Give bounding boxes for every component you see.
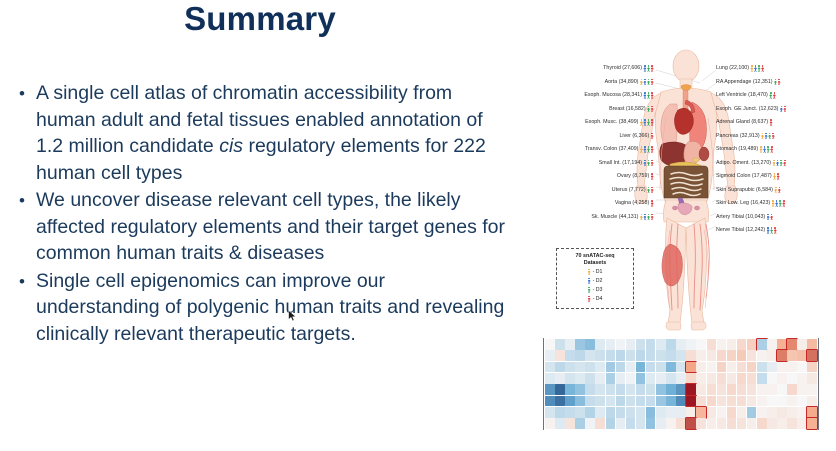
heatmap-cell [545,339,555,350]
heatmap-cell [565,418,575,429]
heatmap-cell-marker [782,354,783,358]
heatmap-cell [787,396,797,407]
tissue-label-esoph-ge-junct: Esoph. GE Junct. (12,623) [716,103,836,117]
heatmap-cell [616,407,626,418]
heatmap-cell [737,384,747,395]
heatmap-cell [777,396,787,407]
heatmap-cell [646,396,656,407]
enrichment-heatmap [543,338,819,430]
heatmap-cell [545,384,555,395]
heatmap-cell [807,350,817,361]
heatmap-cell [676,418,686,429]
heatmap-cell [606,396,616,407]
heatmap-cell [595,396,605,407]
heatmap-cell [707,373,717,384]
heatmap-cell [787,362,797,373]
heatmap-cell [737,350,747,361]
heatmap-cell [616,350,626,361]
heatmap-cell [727,407,737,418]
heatmap-cell [545,418,555,429]
dataset-legend: 70 snATAC-seq Datasets - D1 - D2 - D3 - … [556,248,634,309]
heatmap-cell [646,384,656,395]
heatmap-cell [626,339,636,350]
heatmap-cell [777,407,787,418]
tissue-label-artery-tibial: Artery Tibial (10,043) [716,211,836,225]
heatmap-cell [656,362,666,373]
heatmap-cell [717,362,727,373]
heatmap-cell [787,418,797,429]
heatmap-cell [676,350,686,361]
heatmap-cell [616,396,626,407]
heatmap-cell-marker [701,411,702,415]
heatmap-cell [585,350,595,361]
heatmap-cell [686,407,696,418]
heatmap-cell [777,384,787,395]
heatmap-cell [747,407,757,418]
heatmap-cell [747,418,757,429]
bullet-marker-icon: • [8,268,36,295]
heatmap-cell [575,407,585,418]
heatmap-cell [747,396,757,407]
heatmap-cell [737,396,747,407]
heatmap-cell [707,396,717,407]
tissue-label-adipo-oment: Adipo. Oment. (13,270) [716,157,836,171]
heatmap-cell [616,373,626,384]
heatmap-cell [575,396,585,407]
heatmap-cell-marker [812,354,813,358]
heatmap-cell [767,384,777,395]
heatmap-cell [676,384,686,395]
heatmap-cell [585,362,595,373]
heatmap-cell [696,350,706,361]
heatmap-cell [545,350,555,361]
heatmap-cell [656,418,666,429]
heatmap-cell [555,384,565,395]
heatmap-cell [575,350,585,361]
heatmap-cell [636,407,646,418]
list-item: • Single cell epigenomics can improve ou… [8,268,508,348]
tissue-label-lung: Lung (22,100) [716,62,836,76]
heatmap-cell-marker [792,343,793,347]
heatmap-cell [555,396,565,407]
tissue-label-stomach: Stomach (19,489) [716,143,836,157]
heatmap-cell [595,339,605,350]
heatmap-cell [656,339,666,350]
heatmap-cell [646,362,656,373]
person-icon-d3 [588,287,591,294]
heatmap-cell [666,339,676,350]
heatmap-cell [747,384,757,395]
list-item: • A single cell atlas of chromatin acces… [8,80,508,186]
heatmap-cell [555,373,565,384]
heatmap-cell [626,362,636,373]
heatmap-cell [717,384,727,395]
heatmap-cell [656,350,666,361]
heatmap-cell [777,339,787,350]
heatmap-cell [555,350,565,361]
heatmap-cell [575,362,585,373]
heatmap-cell [636,396,646,407]
heatmap-cell [727,396,737,407]
legend-title-line2: Datasets [561,260,629,267]
heatmap-cell [565,350,575,361]
heatmap-cell [717,396,727,407]
heatmap-cell [797,407,807,418]
heatmap-cell [636,418,646,429]
heatmap-cell [787,407,797,418]
heatmap-cell [636,373,646,384]
heatmap-cell [757,396,767,407]
heatmap-cell [737,373,747,384]
heatmap-cell [807,373,817,384]
heatmap-cell [666,373,676,384]
tissue-label-ovary: Ovary (8,759) [520,170,655,184]
heatmap-cell [565,362,575,373]
heatmap-cell [707,384,717,395]
heatmap-cell-marker [691,399,692,403]
heatmap-cell [747,362,757,373]
heatmap-cell [737,407,747,418]
heatmap-cell [807,362,817,373]
heatmap-cell [686,396,696,407]
heatmap-cell [696,418,706,429]
heatmap-cell-marker [691,422,692,426]
heatmap-cell [797,418,807,429]
heatmap-cell [595,350,605,361]
heatmap-cell [646,407,656,418]
heatmap-cell [666,350,676,361]
heatmap-cell [595,418,605,429]
heatmap-cell [807,407,817,418]
heatmap-cell [626,407,636,418]
heatmap-cell [686,339,696,350]
heatmap-cell [777,350,787,361]
heatmap-cell [686,373,696,384]
heatmap-cell [797,350,807,361]
heatmap-cell [757,373,767,384]
heatmap-cell [727,373,737,384]
heatmap-cell [606,362,616,373]
list-item: • We uncover disease relevant cell types… [8,187,508,267]
bullet-1-text: A single cell atlas of chromatin accessi… [36,80,508,186]
heatmap-cell [727,350,737,361]
heatmap-cell [797,339,807,350]
heatmap-cell [707,418,717,429]
slide-canvas: Summary • A single cell atlas of chromat… [0,0,836,451]
bullet-2-text: We uncover disease relevant cell types, … [36,187,508,267]
heatmap-cell [787,373,797,384]
heatmap-cell [646,373,656,384]
heatmap-cell [767,418,777,429]
heatmap-cell [777,373,787,384]
heatmap-cell [767,350,777,361]
tissue-label-left-ventricle: Left Ventricle (18,470) [716,89,836,103]
heatmap-cell [757,384,767,395]
heatmap-cell [595,407,605,418]
heatmap-cell [707,339,717,350]
person-icon-d2 [588,278,591,285]
heatmap-cell [545,396,555,407]
tissue-label-adrenal-gland: Adrenal Gland (8,637) [716,116,836,130]
tissue-label-transv-colon: Transv. Colon (37,409) [520,143,655,157]
heatmap-cell [595,384,605,395]
heatmap-grid [544,338,818,430]
heatmap-cell [656,407,666,418]
heatmap-cell [696,373,706,384]
tissue-label-small-int: Small Int. (17,194) [520,157,655,171]
heatmap-cell [575,418,585,429]
heatmap-cell [636,350,646,361]
heatmap-cell [797,384,807,395]
heatmap-cell [606,350,616,361]
heatmap-cell [575,339,585,350]
heatmap-cell [626,396,636,407]
heatmap-cell [575,373,585,384]
tissue-label-nerve-tibial: Nerve Tibial (12,242) [716,224,836,238]
heatmap-cell [616,362,626,373]
heatmap-cell [555,407,565,418]
heatmap-cell [555,418,565,429]
heatmap-cell [606,373,616,384]
heatmap-cell [797,362,807,373]
heatmap-cell [595,362,605,373]
heatmap-cell [807,396,817,407]
tissue-label-esoph-mucosa: Esoph. Mucosa (28,341) [520,89,655,103]
heatmap-cell [616,339,626,350]
bullet-marker-icon: • [8,80,36,107]
summary-bullet-list: • A single cell atlas of chromatin acces… [8,80,508,348]
heatmap-cell [676,339,686,350]
tissue-label-skin-suprapubic: Skin Suprapubic (6,584) [716,184,836,198]
heatmap-cell [717,350,727,361]
heatmap-cell [696,407,706,418]
heatmap-cell [707,362,717,373]
heatmap-cell [565,396,575,407]
heatmap-cell [727,384,737,395]
heatmap-cell [717,373,727,384]
heatmap-cell [686,362,696,373]
heatmap-cell [696,339,706,350]
tissue-label-esoph-musc: Esoph. Musc. (38,499) [520,116,655,130]
heatmap-cell-marker [691,365,692,369]
heatmap-cell [747,339,757,350]
heatmap-cell [636,362,646,373]
heatmap-cell [686,418,696,429]
heatmap-cell [666,396,676,407]
heatmap-cell [767,339,777,350]
heatmap-cell [565,384,575,395]
heatmap-cell [616,418,626,429]
heatmap-cell [616,384,626,395]
heatmap-cell [717,339,727,350]
heatmap-cell [717,418,727,429]
heatmap-cell [555,339,565,350]
heatmap-cell [646,339,656,350]
heatmap-cell [707,350,717,361]
tissue-label-skin-low-leg: Skin Low. Leg (16,423) [716,197,836,211]
tissue-label-thyroid: Thyroid (27,606) [520,62,655,76]
heatmap-cell [757,339,767,350]
heatmap-cell [575,384,585,395]
heatmap-cell [585,339,595,350]
heatmap-cell [636,384,646,395]
heatmap-cell [585,384,595,395]
page-title: Summary [0,2,520,37]
tissue-label-sk-muscle: Sk. Muscle (44,131) [520,211,655,225]
heatmap-cell [676,396,686,407]
legend-title-line1: 70 snATAC-seq [561,253,629,260]
tissue-label-vagina: Vagina (4,258) [520,197,655,211]
heatmap-cell-marker [812,422,813,426]
heatmap-cell [606,418,616,429]
person-icon-d1 [588,269,591,276]
heatmap-cell [555,362,565,373]
heatmap-cell [656,396,666,407]
heatmap-cell [767,373,777,384]
heatmap-cell [545,362,555,373]
heatmap-cell [565,339,575,350]
heatmap-cell [807,418,817,429]
person-icon-d4 [588,296,591,303]
heatmap-cell [757,407,767,418]
heatmap-cell [606,384,616,395]
legend-entry-d1: - D1 [561,268,629,276]
heatmap-cell-marker [691,388,692,392]
heatmap-cell [787,339,797,350]
heatmap-cell [707,407,717,418]
tissue-label-liver: Liver (6,366) [520,130,655,144]
heatmap-cell [606,407,616,418]
heatmap-cell [666,418,676,429]
mouse-cursor-icon [288,310,297,322]
heatmap-cell [646,350,656,361]
heatmap-cell [727,362,737,373]
heatmap-cell [696,384,706,395]
heatmap-cell [777,418,787,429]
tissue-label-uterus: Uterus (7,772) [520,184,655,198]
human-body-atlas-figure: Thyroid (27,606) Aorta (34,890) Esoph. M… [520,48,836,333]
heatmap-cell [676,407,686,418]
heatmap-cell [595,373,605,384]
tissue-labels-left: Thyroid (27,606) Aorta (34,890) Esoph. M… [520,62,655,224]
skeletal-muscle-highlight [662,244,683,286]
heatmap-cell [646,418,656,429]
heatmap-cell [737,362,747,373]
heatmap-cell [737,418,747,429]
heatmap-cell [666,362,676,373]
heatmap-cell [656,373,666,384]
heatmap-cell [727,339,737,350]
heatmap-cell [777,362,787,373]
tissue-label-ra-appendage: RA Appendage (12,351) [716,76,836,90]
heatmap-cell [686,384,696,395]
bullet-marker-icon: • [8,187,36,214]
tissue-labels-right: Lung (22,100) RA Appendage (12,351) Left… [716,62,836,238]
tissue-label-sigmoid-colon: Sigmoid Colon (17,487) [716,170,836,184]
bullet-1-part-2-italic: cis [219,135,243,157]
heatmap-cell [696,396,706,407]
heatmap-cell [757,350,767,361]
heatmap-cell [686,350,696,361]
heatmap-cell [787,384,797,395]
heatmap-cell [696,362,706,373]
heatmap-cell [585,396,595,407]
heatmap-cell [626,418,636,429]
heatmap-cell [737,339,747,350]
heatmap-cell [585,407,595,418]
heatmap-cell-marker [812,411,813,415]
tissue-label-pancreas: Pancreas (32,913) [716,130,836,144]
heatmap-cell [545,373,555,384]
heatmap-cell [767,407,777,418]
heatmap-cell [727,418,737,429]
legend-entry-d2: - D2 [561,277,629,285]
heatmap-cell [767,396,777,407]
heatmap-cell [807,339,817,350]
heatmap-cell [666,384,676,395]
heatmap-cell [747,350,757,361]
heatmap-cell [636,339,646,350]
heatmap-cell [585,418,595,429]
heatmap-cell [757,362,767,373]
heatmap-cell-marker [761,343,762,347]
tissue-label-aorta: Aorta (34,890) [520,76,655,90]
heatmap-cell [797,373,807,384]
heatmap-cell [626,384,636,395]
heatmap-cell [666,407,676,418]
bullet-3-text: Single cell epigenomics can improve our … [36,268,508,348]
heatmap-cell [656,384,666,395]
heatmap-cell [676,362,686,373]
heatmap-cell [767,362,777,373]
heatmap-cell [565,407,575,418]
heatmap-cell [626,373,636,384]
heatmap-cell [585,373,595,384]
heatmap-cell [807,384,817,395]
heatmap-cell [565,373,575,384]
heatmap-cell [606,339,616,350]
heatmap-cell [787,350,797,361]
heatmap-cell [676,373,686,384]
heatmap-cell [717,407,727,418]
heatmap-cell [757,418,767,429]
heatmap-cell [545,407,555,418]
heatmap-cell [797,396,807,407]
legend-entry-d3: - D3 [561,286,629,294]
heatmap-cell [626,350,636,361]
legend-entry-d4: - D4 [561,295,629,303]
tissue-label-breast: Breast (16,582) [520,103,655,117]
heatmap-cell [747,373,757,384]
